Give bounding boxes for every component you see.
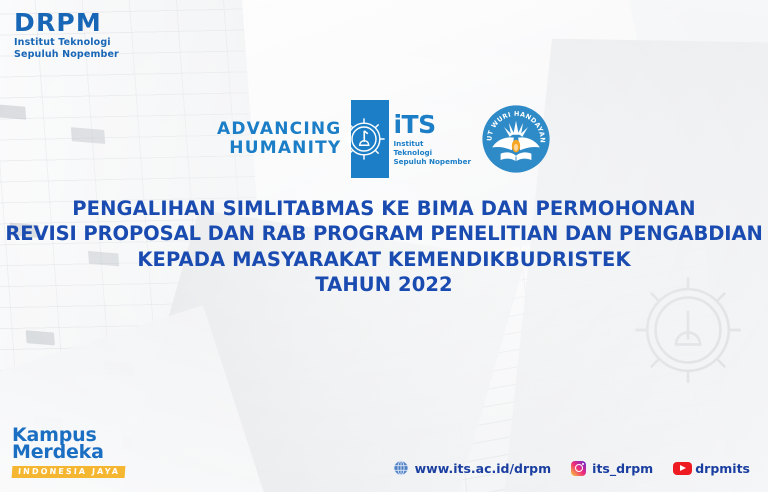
title-line-1: PENGALIHAN SIMLITABMAS KE BIMA DAN PERMO… (0, 196, 768, 221)
footer-youtube-label: drpmits (695, 461, 750, 476)
tagline-line-1: ADVANCING (217, 120, 341, 139)
title-line-2: REVISI PROPOSAL DAN RAB PROGRAM PENELITI… (0, 221, 768, 246)
title-line-3: KEPADA MASYARAKAT KEMENDIKBUDRISTEK (0, 247, 768, 272)
its-wordmark-block: iTS Institut Teknologi Sepuluh Nopember (393, 112, 471, 167)
its-logo: iTS Institut Teknologi Sepuluh Nopember (351, 100, 471, 178)
its-subtitle-line-2: Teknologi (393, 148, 471, 157)
its-logo-mark-wrap: iTS Institut Teknologi Sepuluh Nopember (383, 100, 471, 178)
footer-instagram-label: its_drpm (592, 461, 653, 476)
its-subtitle-line-1: Institut (393, 139, 471, 148)
globe-icon (393, 460, 409, 476)
kampus-merdeka-tagline: INDONESIA JAYA (12, 466, 126, 478)
its-subtitle-line-3: Sepuluh Nopember (393, 157, 471, 166)
its-gear-icon (340, 115, 388, 163)
youtube-icon (673, 462, 692, 475)
slide-title: PENGALIHAN SIMLITABMAS KE BIMA DAN PERMO… (0, 196, 768, 297)
background-window (26, 330, 55, 345)
kampus-merdeka-logo: Kampus Merdeka INDONESIA JAYA (12, 426, 125, 478)
tagline-line-2: HUMANITY (217, 139, 341, 158)
advancing-humanity-tagline: ADVANCING HUMANITY (217, 120, 341, 158)
drpm-logo-subtitle-line-2: Sepuluh Nopember (14, 50, 119, 60)
drpm-logo: DRPM Institut Teknologi Sepuluh Nopember (14, 10, 119, 59)
drpm-logo-wordmark: DRPM (14, 10, 119, 35)
footer-website-link[interactable]: www.its.ac.id/drpm (393, 460, 552, 476)
footer-instagram-link[interactable]: its_drpm (571, 461, 653, 476)
title-line-4: TAHUN 2022 (0, 272, 768, 297)
kampus-merdeka-word-2: Merdeka (12, 443, 125, 462)
drpm-logo-subtitle-line-1: Institut Teknologi (14, 38, 119, 48)
footer-website-label: www.its.ac.id/drpm (415, 461, 552, 476)
footer-social-row: www.its.ac.id/drpm its_drpm drpmits (393, 460, 750, 476)
its-wordmark-subtitle: Institut Teknologi Sepuluh Nopember (393, 139, 471, 167)
its-wordmark: iTS (393, 112, 471, 137)
footer-youtube-link[interactable]: drpmits (673, 461, 750, 476)
center-logo-bar: ADVANCING HUMANITY iTS (0, 100, 768, 178)
kemendikbud-tut-wuri-handayani-logo: TUT WURI HANDAYANI (481, 104, 551, 174)
presentation-slide: DRPM Institut Teknologi Sepuluh Nopember… (0, 0, 768, 492)
instagram-icon (571, 461, 586, 476)
